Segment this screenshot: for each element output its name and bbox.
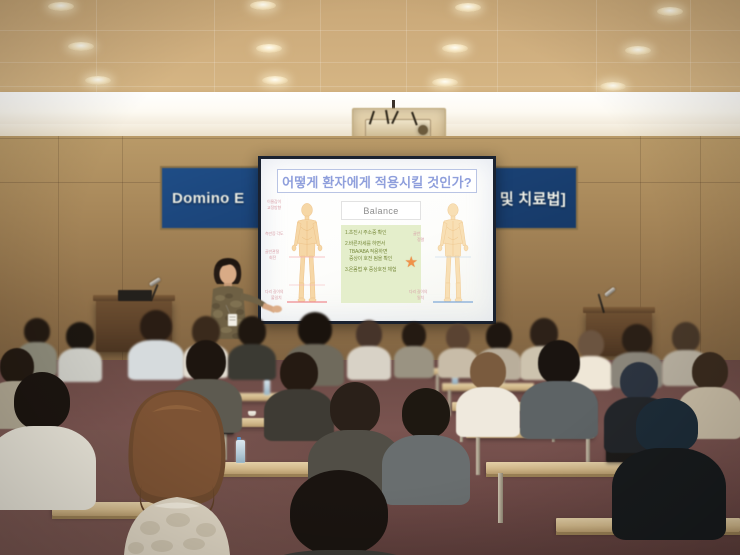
head [402,388,450,438]
head [24,318,50,344]
head [402,322,426,348]
ceiling-downlight [262,76,288,85]
head [140,310,172,342]
ceiling-downlight [256,44,282,53]
body-diagram-right: 골반 정렬 다리 길이의 일치 [431,201,475,305]
figure-label: 다리 길이의 [409,289,427,294]
foreground-person-figure [92,388,262,555]
slide-point: 2.바른자세를 하면서 [345,241,417,248]
figure-label: 정렬 [417,237,424,242]
audience-member-foreground [92,388,262,555]
head [470,352,506,390]
torso [0,426,96,510]
head [486,322,512,350]
torso [228,344,276,380]
head [578,330,604,358]
ceiling-downlight [48,2,74,11]
desk-leg [498,473,503,523]
ceiling-downlight [455,3,481,12]
head [620,362,658,400]
ceiling-downlight [432,78,458,87]
torso [394,346,434,378]
head [692,352,728,390]
head [298,312,332,346]
figure-label: 교정방향 [267,205,281,210]
head [330,382,380,434]
water-bottle [264,379,270,395]
head [290,470,388,555]
head [186,340,226,382]
head [280,352,318,392]
slide-point: 1.초진시 주소증 확인 [345,230,417,237]
head [622,324,652,354]
torso [58,348,102,382]
head [672,322,700,352]
head [14,372,70,430]
ceiling-downlight [600,82,626,91]
slide-title-box: 어떻게 환자에게 적용시킬 것인가? [277,169,477,193]
banner-left-text: Domino E [172,190,244,207]
ceiling-downlight [85,76,111,85]
head [356,320,382,348]
projector-lens-icon [418,125,428,135]
ceiling-downlight [250,1,276,10]
balance-header-box: Balance [341,201,421,220]
banner-right-text: 및 치료법] [500,188,566,209]
ceiling-downlight [442,44,468,53]
desk-leg [476,437,480,475]
star-icon: ★ [405,255,418,270]
balance-label: Balance [363,206,398,216]
torso [128,340,184,380]
ceiling-downlight [68,42,94,51]
ceiling [0,0,740,96]
torso [456,387,520,437]
screen-surface: 어떻게 환자에게 적용시킬 것인가? [261,159,493,321]
figure-label: 골반 [413,231,420,236]
torso [382,435,470,505]
human-figure-icon [431,201,475,305]
figure-label: 이물감이 [267,199,281,204]
torso [612,448,726,540]
lectern-monitor [118,290,152,301]
head [446,324,470,350]
projection-screen: 어떻게 환자에게 적용시킬 것인가? [258,156,496,324]
torso [520,381,598,439]
slide-title: 어떻게 환자에게 적용시킬 것인가? [282,172,472,191]
lectern-top [583,307,655,313]
head [538,340,580,384]
figure-label: 측만증 각도 [265,231,283,236]
human-figure-icon [285,201,329,305]
ceiling-downlight [625,46,651,55]
presentation-slide: 어떻게 환자에게 적용시킬 것인가? [261,159,493,321]
head [238,316,266,346]
head [66,322,94,350]
lecture-hall-photo: Domino E 및 치료법] 어떻게 환자에게 적용시킬 것인가? [0,0,740,555]
ceiling-downlight [657,7,683,16]
body-diagram-left: 이물감이 교정방향 측만증 각도 골반관절 회전 다리 길이의 불일치 [285,201,329,305]
torso [264,389,334,441]
head [636,398,698,452]
torso [347,346,391,380]
figure-label: 일치 [417,295,424,300]
